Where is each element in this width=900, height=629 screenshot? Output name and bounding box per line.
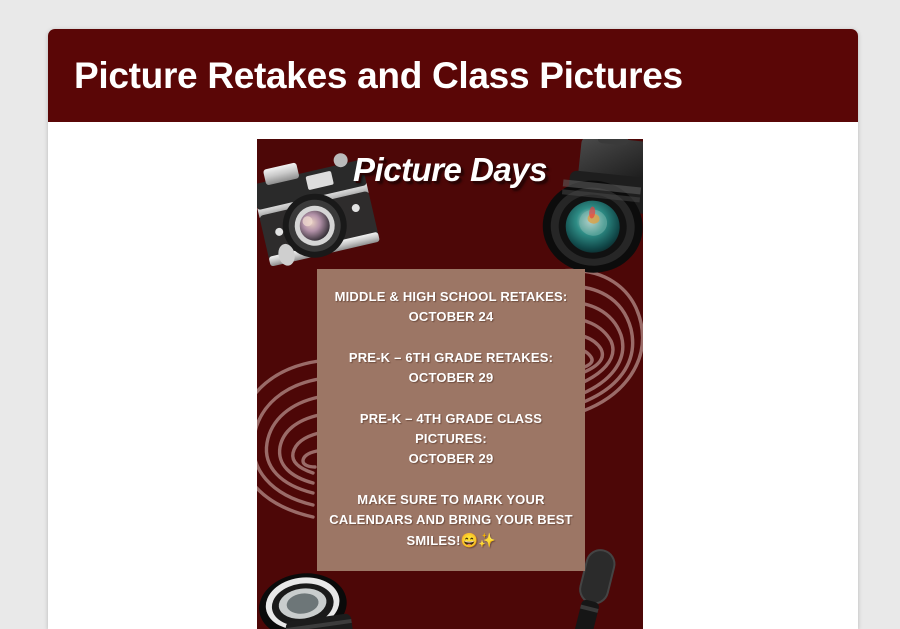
flyer-message-box: MIDDLE & HIGH SCHOOL RETAKES: OCTOBER 24… <box>317 269 585 571</box>
closing-line-1: MAKE SURE TO MARK YOUR <box>327 490 575 510</box>
page-title: Picture Retakes and Class Pictures <box>74 57 683 94</box>
message-date: OCTOBER 29 <box>327 449 575 469</box>
closing-line-2: CALENDARS AND BRING YOUR BEST <box>327 510 575 530</box>
picture-days-flyer: Picture Days MIDDLE & HIGH SCHOOL RETAKE… <box>257 139 643 629</box>
flyer-title: Picture Days <box>257 151 643 189</box>
closing-line-3: SMILES!😄✨ <box>327 530 575 551</box>
message-heading: PRE-K – 6TH GRADE RETAKES: <box>327 348 575 368</box>
message-date: OCTOBER 24 <box>327 307 575 327</box>
message-date: OCTOBER 29 <box>327 368 575 388</box>
smile-sparkle-emoji: 😄✨ <box>461 532 496 548</box>
message-block: PRE-K – 6TH GRADE RETAKES: OCTOBER 29 <box>327 348 575 388</box>
closing-message: MAKE SURE TO MARK YOUR CALENDARS AND BRI… <box>327 490 575 551</box>
message-block: MIDDLE & HIGH SCHOOL RETAKES: OCTOBER 24 <box>327 287 575 327</box>
page-card: Picture Retakes and Class Pictures <box>48 29 858 629</box>
message-heading: PRE-K – 4TH GRADE CLASS PICTURES: <box>327 409 575 449</box>
message-heading: MIDDLE & HIGH SCHOOL RETAKES: <box>327 287 575 307</box>
message-block: PRE-K – 4TH GRADE CLASS PICTURES: OCTOBE… <box>327 409 575 469</box>
page-content-area: Picture Days MIDDLE & HIGH SCHOOL RETAKE… <box>48 122 858 629</box>
closing-text: SMILES! <box>407 533 461 548</box>
page-header: Picture Retakes and Class Pictures <box>48 29 858 122</box>
